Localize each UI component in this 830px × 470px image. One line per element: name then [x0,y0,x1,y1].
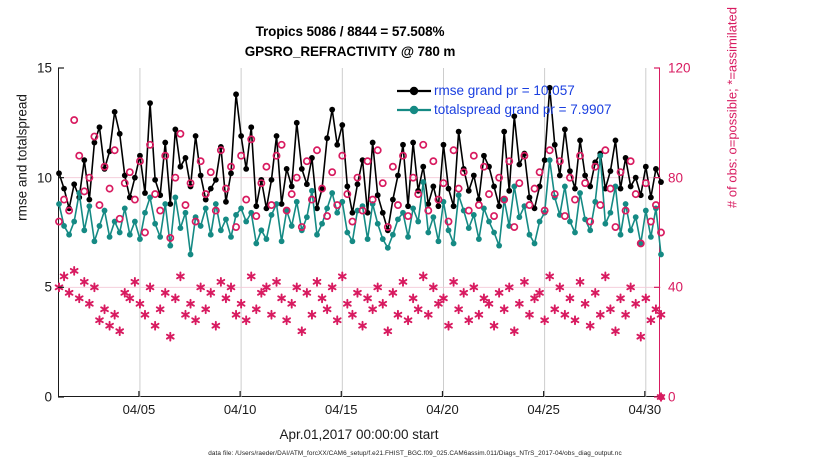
data-file-note: data file: /Users/raeder/DAI/ATM_forcXX/… [0,450,830,457]
y-axis-right-label: # of obs: o=possible; *=assimilated [725,0,740,278]
figure-canvas: Tropics 5086 / 8844 = 57.508% GPSRO_REFR… [0,0,830,470]
y-right-tick-40: 40 [668,280,728,295]
y-left-tick-0: 0 [0,390,52,405]
legend: rmse grand pr = 10.057 totalspread grand… [396,82,612,118]
legend-marker-rmse-icon [396,84,432,98]
series-3 [56,267,665,341]
x-tick-04/10: 04/10 [205,402,275,417]
x-tick-04/30: 04/30 [610,402,680,417]
chart-title-line-1: Tropics 5086 / 8844 = 57.508% [0,22,700,42]
legend-entry-totalspread: totalspread grand pr = 7.9907 [396,101,612,118]
data-series-layer [56,85,665,401]
legend-label-totalspread: totalspread grand pr = 7.9907 [434,102,612,117]
x-tick-04/20: 04/20 [407,402,477,417]
chart-title-line-2: GPSRO_REFRACTIVITY @ 780 m [0,42,700,62]
legend-label-rmse: rmse grand pr = 10.057 [434,83,575,98]
y-right-tick-120: 120 [668,61,728,76]
chart-title: Tropics 5086 / 8844 = 57.508% GPSRO_REFR… [0,22,700,61]
x-tick-04/15: 04/15 [306,402,376,417]
x-axis-label: Apr.01,2017 00:00:00 start [58,427,660,442]
y-right-tick-80: 80 [668,170,728,185]
legend-marker-totalspread-icon [396,103,432,117]
x-tick-04/05: 04/05 [104,402,174,417]
y-axis-left-label: rmse and totalspread [15,8,30,308]
x-tick-04/25: 04/25 [509,402,579,417]
legend-entry-rmse: rmse grand pr = 10.057 [396,82,612,99]
